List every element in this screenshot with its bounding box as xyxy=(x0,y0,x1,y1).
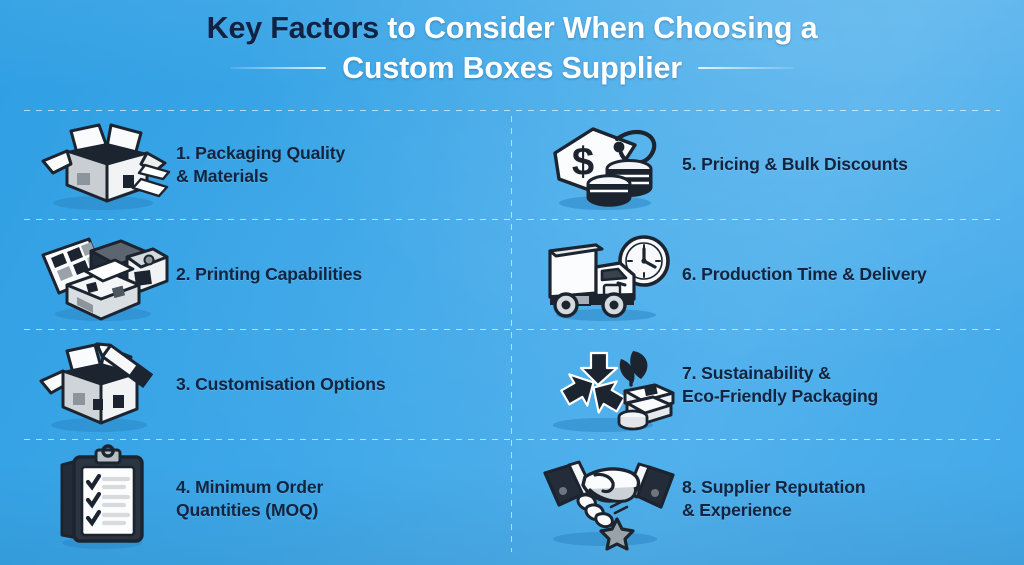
factor-item-5[interactable]: $ 5. Pricing & Bulk Discounts xyxy=(512,110,1024,220)
factor-item-1-line-1: Packaging Quality xyxy=(195,143,345,163)
factor-item-4-text: 4. Minimum Order Quantities (MOQ) xyxy=(172,476,512,522)
factor-item-7[interactable]: 7. Sustainability & Eco-Friendly Packagi… xyxy=(512,330,1024,440)
factor-item-5-line-1: Pricing & Bulk Discounts xyxy=(701,154,908,174)
factors-row: 4. Minimum Order Quantities (MOQ) xyxy=(0,440,1024,558)
factors-row: 2. Printing Capabilities xyxy=(0,220,1024,330)
factor-item-7-number: 7. xyxy=(682,363,696,383)
factor-item-5-number: 5. xyxy=(682,154,696,174)
factor-item-3-number: 3. xyxy=(176,374,190,394)
factor-item-8-number: 8. xyxy=(682,477,696,497)
box-with-pencil-icon xyxy=(34,335,172,435)
factor-item-1-number: 1. xyxy=(176,143,190,163)
factor-item-6-line-1: Production Time & Delivery xyxy=(701,264,927,284)
factor-item-6[interactable]: 6. Production Time & Delivery xyxy=(512,220,1024,330)
factor-item-8-line-1: Supplier Reputation xyxy=(701,477,865,497)
title-rule-left-decoration xyxy=(230,67,326,69)
factor-item-5-text: 5. Pricing & Bulk Discounts xyxy=(678,153,1024,176)
page-title-line-1: Key Factors to Consider When Choosing a xyxy=(0,12,1024,45)
factor-item-1-line-2: & Materials xyxy=(176,165,512,188)
factor-item-1-text: 1. Packaging Quality & Materials xyxy=(172,142,512,188)
title-rule-right-decoration xyxy=(698,67,794,69)
delivery-truck-clock-icon xyxy=(540,225,678,325)
page-subtitle-row: Custom Boxes Supplier xyxy=(0,51,1024,86)
factor-item-3[interactable]: 3. Customisation Options xyxy=(0,330,512,440)
factor-item-8[interactable]: 8. Supplier Reputation & Experience xyxy=(512,440,1024,558)
factor-item-1[interactable]: 1. Packaging Quality & Materials xyxy=(0,110,512,220)
printer-color-swatch-icon xyxy=(34,225,172,325)
handshake-star-icon xyxy=(540,449,678,549)
factor-item-4-line-2: Quantities (MOQ) xyxy=(176,499,512,522)
factor-item-4-line-1: Minimum Order xyxy=(195,477,323,497)
factor-item-2-number: 2. xyxy=(176,264,190,284)
factor-item-8-line-2: & Experience xyxy=(682,499,1024,522)
factors-grid: 1. Packaging Quality & Materials xyxy=(0,110,1024,560)
recycle-leaf-icon xyxy=(540,335,678,435)
factor-item-7-line-2: Eco-Friendly Packaging xyxy=(682,385,1024,408)
factors-row: 3. Customisation Options xyxy=(0,330,1024,440)
factor-item-6-text: 6. Production Time & Delivery xyxy=(678,263,1024,286)
factors-row: 1. Packaging Quality & Materials xyxy=(0,110,1024,220)
factor-item-3-text: 3. Customisation Options xyxy=(172,373,512,396)
infographic-canvas: Key Factors to Consider When Choosing a … xyxy=(0,0,1024,565)
factor-item-2-text: 2. Printing Capabilities xyxy=(172,263,512,286)
factor-item-6-number: 6. xyxy=(682,264,696,284)
factor-item-3-line-1: Customisation Options xyxy=(195,374,385,394)
factor-item-7-line-1: Sustainability & xyxy=(701,363,831,383)
factor-item-4[interactable]: 4. Minimum Order Quantities (MOQ) xyxy=(0,440,512,558)
factor-item-4-number: 4. xyxy=(176,477,190,497)
factor-item-2[interactable]: 2. Printing Capabilities xyxy=(0,220,512,330)
open-box-icon xyxy=(34,115,172,215)
page-title-rest: to Consider When Choosing a xyxy=(379,11,817,45)
factor-item-2-line-1: Printing Capabilities xyxy=(195,264,362,284)
clipboard-checklist-icon xyxy=(34,449,172,549)
page-title-accent: Key Factors xyxy=(207,11,379,45)
svg-text:$: $ xyxy=(572,140,594,184)
infographic-header: Key Factors to Consider When Choosing a … xyxy=(0,12,1024,86)
price-tag-coins-icon: $ xyxy=(540,115,678,215)
page-title-line-2: Custom Boxes Supplier xyxy=(342,51,682,86)
factor-item-7-text: 7. Sustainability & Eco-Friendly Packagi… xyxy=(678,362,1024,408)
factor-item-8-text: 8. Supplier Reputation & Experience xyxy=(678,476,1024,522)
